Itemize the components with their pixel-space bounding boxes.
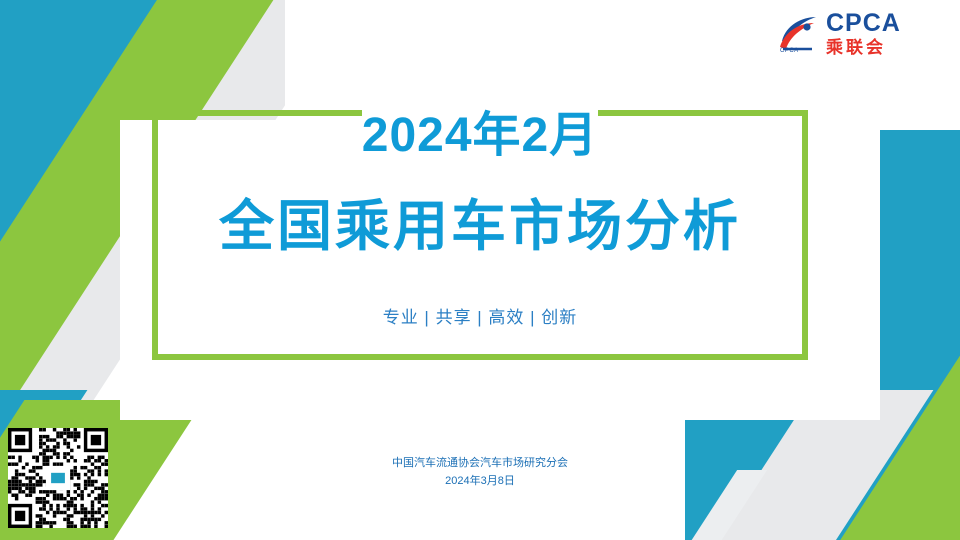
footer: 中国汽车流通协会汽车市场研究分会 2024年3月8日 [0,455,960,490]
qr-code-canvas [8,428,108,528]
slide-year-subtitle: 2024年2月 [0,108,960,163]
footer-organization: 中国汽车流通协会汽车市场研究分会 [0,455,960,473]
cpca-swoosh-logo-icon: CPCA [776,11,820,55]
cpca-logo-chinese: 乘联会 [826,39,901,56]
cpca-logo-sub-label: CPCA [780,48,799,54]
cpca-logo-text: CPCA 乘联会 [826,11,901,56]
cpca-logo: CPCA CPCA 乘联会 [776,8,944,58]
footer-date: 2024年3月8日 [0,473,960,491]
slide-slogan: 专业 | 共享 | 高效 | 创新 [0,303,960,328]
cpca-logo-abbr: CPCA [826,11,901,36]
page-title: 全国乘用车市场分析 [0,195,960,258]
presentation-slide: 2024年2月 全国乘用车市场分析 专业 | 共享 | 高效 | 创新 中国汽车… [0,0,960,540]
qr-code-icon[interactable] [8,428,108,528]
